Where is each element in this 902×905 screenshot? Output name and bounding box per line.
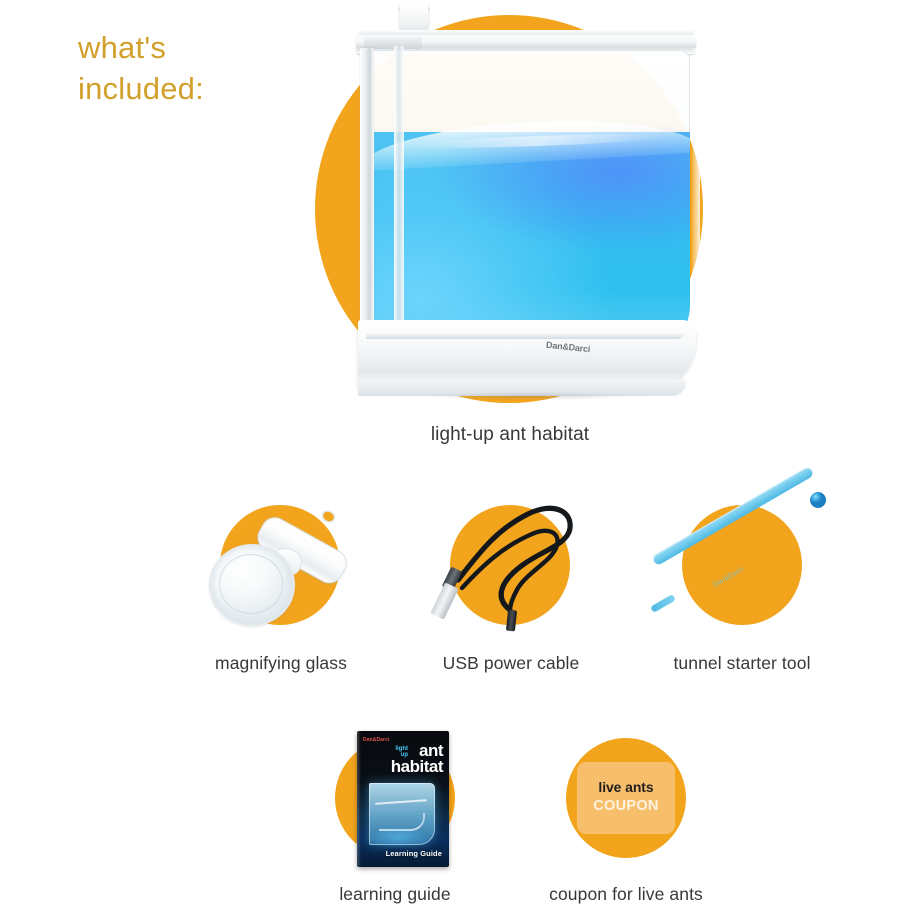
magnifier-lens — [209, 544, 295, 626]
page-title: what's included: — [78, 28, 204, 110]
habitat-tank — [360, 50, 690, 350]
tool-tapered-end — [650, 594, 676, 613]
book-title: ant habitat — [363, 743, 443, 774]
acrylic-front-edge — [692, 48, 700, 316]
tunnel-starter-tool-caption: tunnel starter tool — [673, 653, 810, 674]
base-seam — [366, 332, 684, 339]
live-ants-coupon-card: live ants COUPON — [577, 762, 675, 834]
book-footer-label: Learning Guide — [386, 849, 442, 858]
usb-power-cable-illustration — [432, 492, 592, 642]
tool-shaft — [651, 466, 814, 567]
tool-brand-mark: Dan&Darci — [712, 570, 738, 589]
usb-power-cable-caption: USB power cable — [443, 653, 580, 674]
lid-hinge — [364, 36, 422, 49]
magnifying-glass-caption: magnifying glass — [215, 653, 347, 674]
coupon-subtitle: COUPON — [577, 798, 675, 814]
magnifying-glass-illustration — [205, 500, 355, 630]
book-title-line2: habitat — [363, 759, 443, 775]
magnifier-hang-hole — [322, 510, 336, 523]
tool-ball-tip — [810, 492, 826, 508]
habitat-drop-shadow — [378, 390, 678, 402]
tunnel-starter-tool-illustration: Dan&Darci — [650, 498, 850, 628]
learning-guide-booklet: Dan&Darci light up ant habitat Learning … — [357, 731, 449, 867]
lid-top-edge — [358, 30, 694, 35]
infographic-canvas: what's included: Dan&Darci light-up ant … — [0, 0, 902, 902]
light-up-ant-habitat-illustration: Dan&Darci — [348, 2, 700, 406]
hero-caption: light-up ant habitat — [431, 424, 589, 446]
coupon-title: live ants — [577, 779, 675, 795]
